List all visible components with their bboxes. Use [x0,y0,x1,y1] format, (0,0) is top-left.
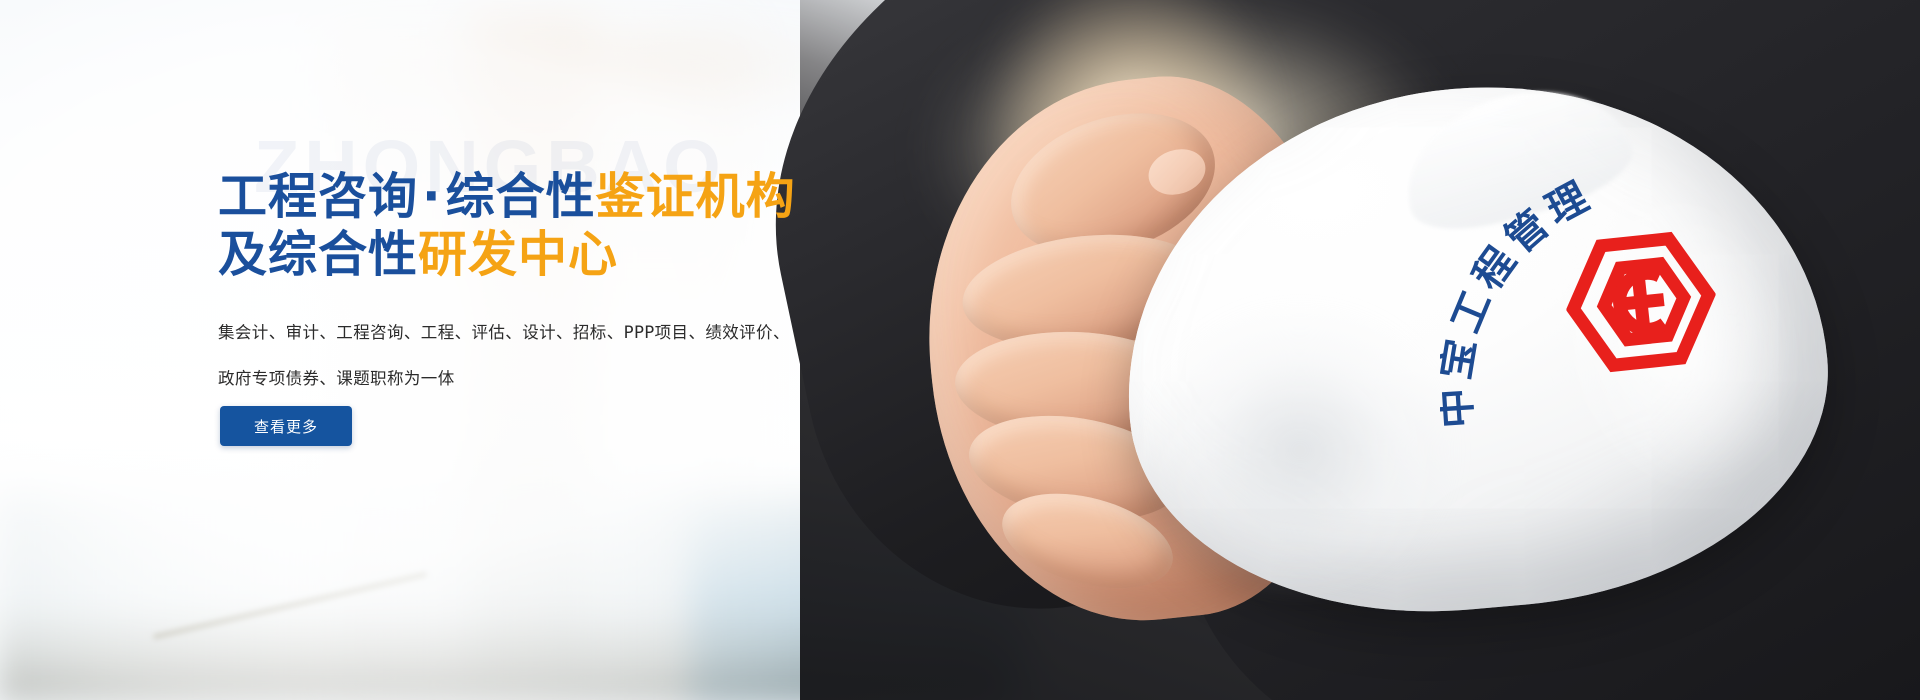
view-more-button[interactable]: 查看更多 [220,406,352,446]
zhongbao-hexagon-logo [1559,225,1723,380]
hero-banner: 中宝工程管理 ZHONGBAO 工程咨询·综合性鉴证机构 及综合性研发中心 集会… [0,0,1920,700]
headline-seg-2: 综合性 [446,168,596,225]
headline-separator-dot: · [418,168,446,225]
headline-line-2: 及综合性研发中心 [218,226,938,284]
hero-description: 集会计、审计、工程咨询、工程、评估、设计、招标、PPP项目、绩效评价、 政府专项… [218,310,838,402]
headline-seg-4: 及综合性 [218,226,418,283]
helmet-edge-shadow [1140,300,1460,600]
headline-seg-5: 研发中心 [418,226,618,283]
hero-copy: ZHONGBAO 工程咨询·综合性鉴证机构 及综合性研发中心 集会计、审计、工程… [218,0,938,700]
headline-seg-1: 工程咨询 [218,168,418,225]
page-title: 工程咨询·综合性鉴证机构 及综合性研发中心 [218,168,938,284]
description-line-2: 政府专项债券、课题职称为一体 [218,356,838,402]
description-line-1: 集会计、审计、工程咨询、工程、评估、设计、招标、PPP项目、绩效评价、 [218,310,838,356]
headline-seg-3: 鉴证机构 [596,168,796,225]
headline-line-1: 工程咨询·综合性鉴证机构 [218,168,938,226]
